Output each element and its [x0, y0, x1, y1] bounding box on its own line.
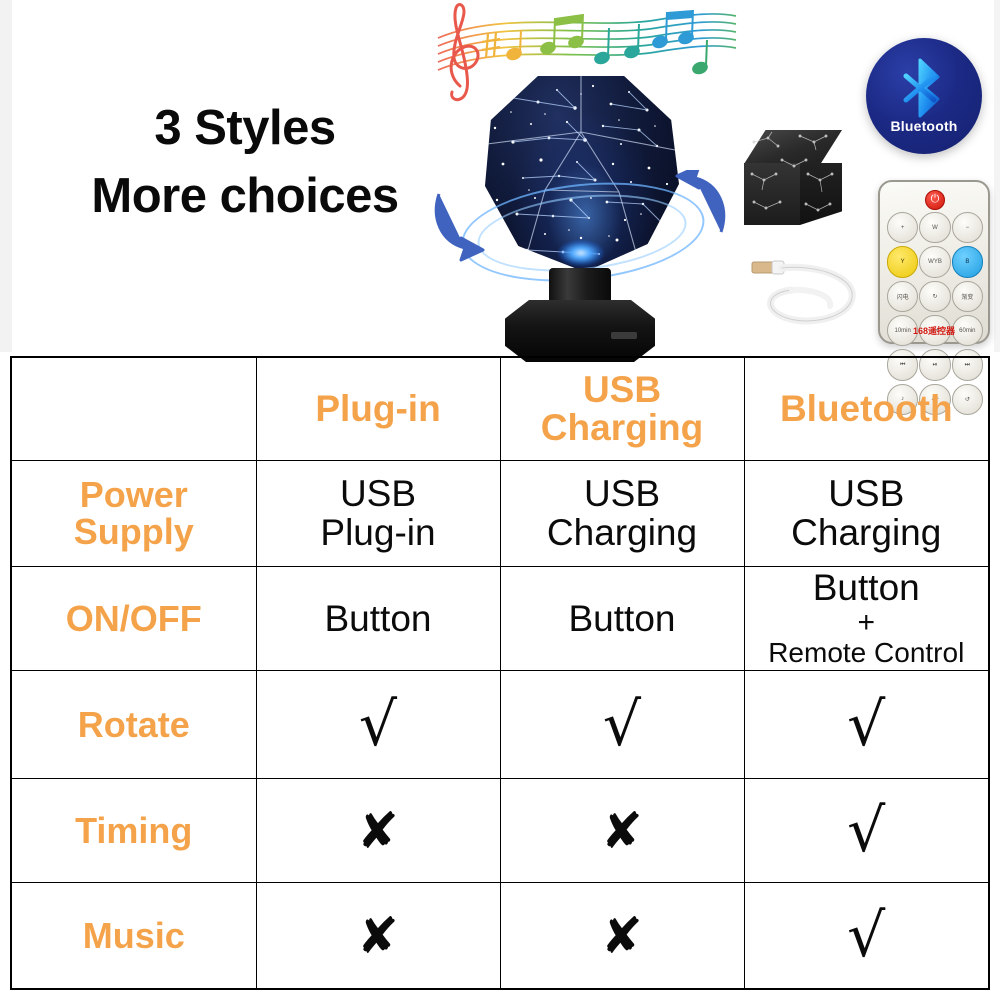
row-label-music: Music — [11, 883, 256, 989]
table-row-timing: Timing ✘ ✘ √ — [11, 779, 989, 883]
row-label-line1: Music — [83, 915, 185, 956]
table-header-row: Plug-in USB Charging Bluetooth — [11, 357, 989, 460]
cell-timing-usb-charging-cross-icon: ✘ — [500, 779, 744, 883]
remote-button[interactable]: WYB — [919, 246, 950, 277]
cell-rotate-plug-in-check-icon: √ — [256, 670, 500, 778]
check-icon: √ — [603, 690, 641, 760]
cell-line2: Charging — [547, 512, 697, 553]
rotation-arrow-right-icon — [667, 170, 729, 248]
header-cell-usb-charging: USB Charging — [500, 357, 744, 460]
row-label-line1: Power — [80, 474, 188, 515]
bluetooth-badge-label: Bluetooth — [866, 118, 982, 134]
headline-line-2: More choices — [55, 168, 435, 226]
headline-line-1: 3 Styles — [55, 100, 435, 158]
header-cell-plug-in: Plug-in — [256, 357, 500, 460]
cell-onoff-bluetooth: Button + Remote Control — [744, 566, 989, 670]
cross-icon: ✘ — [601, 802, 643, 860]
remote-button[interactable]: 闪电 — [887, 281, 918, 312]
cross-icon: ✘ — [357, 907, 399, 965]
cell-line2: + — [745, 607, 989, 639]
header-cell-empty — [11, 357, 256, 460]
check-icon: √ — [847, 690, 885, 760]
row-label-timing: Timing — [11, 779, 256, 883]
comparison-table: Plug-in USB Charging Bluetooth Power Sup… — [10, 356, 990, 990]
cell-line1: USB — [828, 473, 904, 514]
power-icon[interactable]: ⏻ — [925, 190, 945, 210]
table-row-power-supply: Power Supply USB Plug-in USB Charging US… — [11, 460, 989, 566]
remote-brand-label: 168遥控器 — [880, 324, 988, 337]
cross-icon: ✘ — [357, 802, 399, 860]
cell-timing-bluetooth-check-icon: √ — [744, 779, 989, 883]
bluetooth-icon — [900, 58, 952, 118]
row-label-power-supply: Power Supply — [11, 460, 256, 566]
check-icon: √ — [847, 901, 885, 971]
cell-timing-plug-in-cross-icon: ✘ — [256, 779, 500, 883]
row-label-on-off: ON/OFF — [11, 566, 256, 670]
remote-button[interactable]: ↻ — [919, 281, 950, 312]
header-plug-in-line1: Plug-in — [315, 388, 440, 429]
cell-power-bluetooth: USB Charging — [744, 460, 989, 566]
rotation-arrow-left-icon — [431, 184, 493, 262]
row-label-line2: Supply — [74, 511, 194, 552]
cell-line1: Button — [325, 598, 432, 639]
table-row-rotate: Rotate √ √ √ — [11, 670, 989, 778]
row-label-line1: Timing — [75, 810, 192, 851]
cell-power-plug-in: USB Plug-in — [256, 460, 500, 566]
row-label-rotate: Rotate — [11, 670, 256, 778]
remote-button[interactable]: Y — [887, 246, 918, 277]
bluetooth-badge: Bluetooth — [866, 38, 982, 154]
check-icon: √ — [359, 690, 397, 760]
header-usb-line2: Charging — [541, 407, 703, 448]
header-cell-bluetooth: Bluetooth — [744, 357, 989, 460]
row-label-line1: Rotate — [78, 704, 190, 745]
row-label-line1: ON/OFF — [66, 598, 202, 639]
constellation-gift-box — [738, 130, 848, 235]
remote-control: ⏻ + W − Y WYB B 闪电 ↻ 渐变 10min ♫+ 60min ⏮… — [878, 180, 990, 344]
gift-box-front — [744, 163, 800, 225]
table-row-music: Music ✘ ✘ √ — [11, 883, 989, 989]
usb-cable — [748, 248, 866, 336]
cell-line3: Remote Control — [745, 638, 989, 669]
product-comparison-page: 3 Styles More choices — [0, 0, 1000, 1000]
check-icon: √ — [847, 796, 885, 866]
cell-line2: Plug-in — [320, 512, 435, 553]
cell-line1: USB — [584, 473, 660, 514]
gift-box-lid — [744, 130, 842, 164]
remote-button[interactable]: 渐变 — [952, 281, 983, 312]
cell-rotate-usb-charging-check-icon: √ — [500, 670, 744, 778]
table-row-on-off: ON/OFF Button Button Button + Remote Con… — [11, 566, 989, 670]
cell-onoff-plug-in: Button — [256, 566, 500, 670]
header-usb-line1: USB — [583, 369, 661, 410]
header-bluetooth-line1: Bluetooth — [780, 388, 953, 429]
lamp-base — [505, 300, 655, 362]
remote-button[interactable]: B — [952, 246, 983, 277]
hero-section: 3 Styles More choices — [0, 0, 1000, 352]
cell-power-usb-charging: USB Charging — [500, 460, 744, 566]
cell-line1: Button — [813, 567, 920, 608]
cell-line1: Button — [569, 598, 676, 639]
cell-music-plug-in-cross-icon: ✘ — [256, 883, 500, 989]
cell-rotate-bluetooth-check-icon: √ — [744, 670, 989, 778]
remote-button[interactable]: + — [887, 212, 918, 243]
cell-music-usb-charging-cross-icon: ✘ — [500, 883, 744, 989]
cell-line2: Charging — [791, 512, 941, 553]
cross-icon: ✘ — [601, 907, 643, 965]
cell-music-bluetooth-check-icon: √ — [744, 883, 989, 989]
star-projector-lamp — [455, 72, 705, 357]
page-title: 3 Styles More choices — [55, 100, 435, 226]
gift-box-side — [800, 163, 842, 225]
cell-line1: USB — [340, 473, 416, 514]
remote-button[interactable]: − — [952, 212, 983, 243]
cell-onoff-usb-charging: Button — [500, 566, 744, 670]
remote-button[interactable]: W — [919, 212, 950, 243]
